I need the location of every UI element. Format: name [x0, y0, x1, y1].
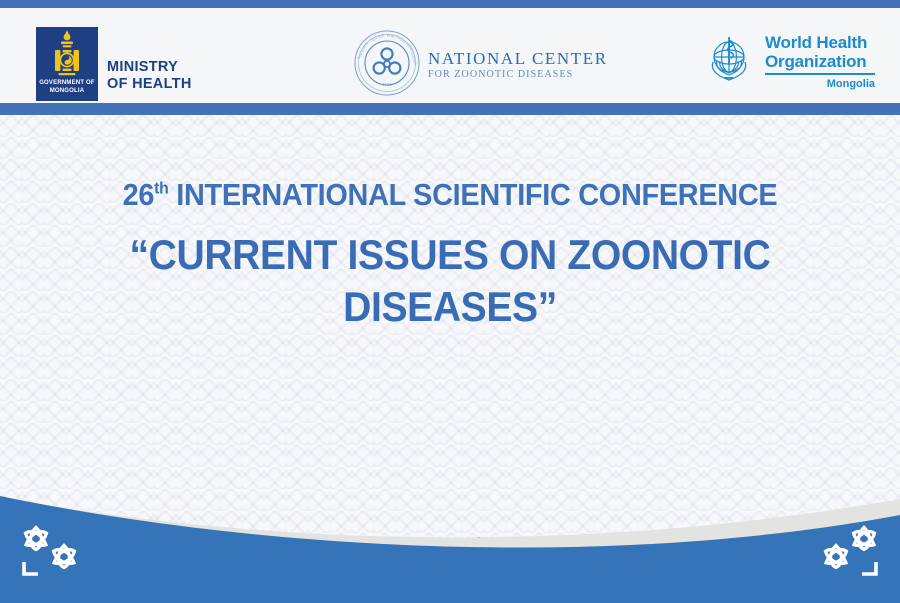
who-name-line1: World Health [765, 33, 875, 52]
conference-theme-title: “CURRENT ISSUES ON ZOONOTIC DISEASES” [32, 229, 869, 333]
biohazard-seal-icon: 1931 NATIONAL CENTER FOR ZOONOTIC DISEAS… [352, 28, 422, 98]
crest-caption-line2: MONGOLIA [50, 88, 85, 94]
ministry-name-line2: OF HEALTH [107, 76, 192, 93]
nczd-name-line2: FOR ZOONOTIC DISEASES [428, 68, 608, 81]
edition-ordinal: th [154, 179, 168, 198]
nczd-name: NATIONAL CENTER FOR ZOONOTIC DISEASES [428, 46, 608, 81]
logo-header: GOVERNMENT OF MONGOLIA MINISTRY OF HEALT… [0, 8, 900, 103]
ministry-name-line1: MINISTRY [107, 59, 192, 76]
logo-world-health-organization: World Health Organization Mongolia [700, 30, 875, 92]
conference-title-slide: GOVERNMENT OF MONGOLIA MINISTRY OF HEALT… [0, 0, 900, 603]
edition-number: 26 [123, 177, 155, 212]
ulzii-knot-ornament-right [808, 522, 884, 585]
who-name-line2: Organization [765, 52, 875, 71]
ministry-of-health-name: MINISTRY OF HEALTH [107, 59, 192, 101]
who-emblem-icon [700, 30, 758, 88]
who-country-label: Mongolia [765, 77, 875, 92]
svg-text:NATIONAL: NATIONAL [357, 40, 370, 60]
who-underline [765, 73, 875, 75]
conference-edition-title: 26th INTERNATIONAL SCIENTIFIC CONFERENCE [32, 177, 869, 213]
header-divider-bar [0, 103, 900, 115]
logo-ministry-of-health: GOVERNMENT OF MONGOLIA MINISTRY OF HEALT… [36, 27, 192, 101]
footer-wave-decoration [0, 463, 900, 603]
ulzii-knot-ornament-left [16, 522, 92, 585]
edition-rest: INTERNATIONAL SCIENTIFIC CONFERENCE [169, 177, 778, 212]
nczd-name-line1: NATIONAL CENTER [428, 49, 608, 68]
title-block: 26th INTERNATIONAL SCIENTIFIC CONFERENCE… [0, 115, 900, 333]
who-name: World Health Organization Mongolia [765, 30, 875, 92]
seal-year: 1931 [383, 82, 392, 87]
wave-blue-band [0, 496, 900, 603]
svg-text:FOR: FOR [387, 34, 395, 39]
soyombo-emblem-icon: GOVERNMENT OF MONGOLIA [36, 27, 98, 101]
top-accent-bar [0, 0, 900, 8]
logo-national-center-zoonotic-diseases: 1931 NATIONAL CENTER FOR ZOONOTIC DISEAS… [352, 28, 608, 98]
